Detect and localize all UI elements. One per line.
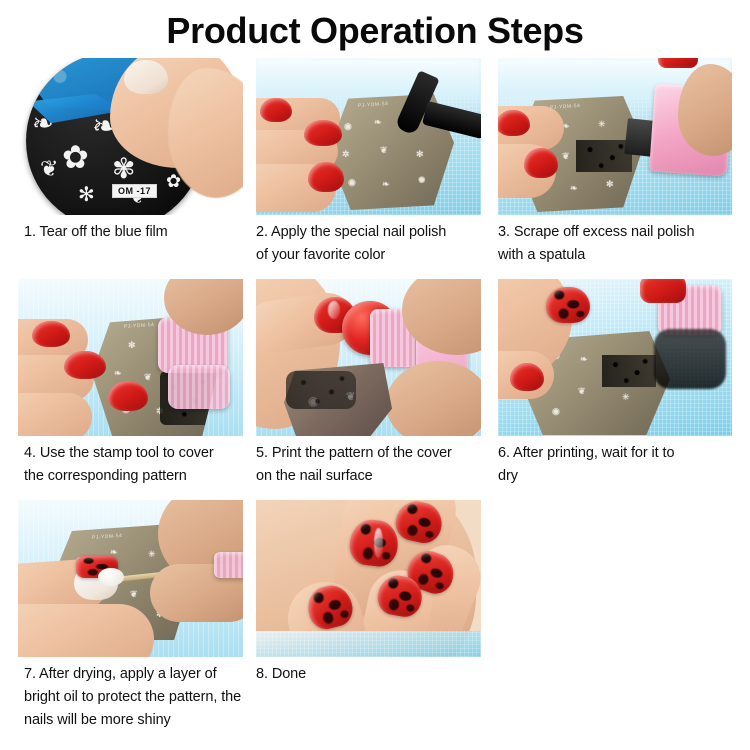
nail-shine xyxy=(374,528,383,558)
step-4-photo: PJ-YDM-54 ✻ ❧ ❦ ◉ ✲ xyxy=(18,279,243,436)
stamper-shadow xyxy=(654,329,726,389)
step-6-photo: ◉ ❧ ✻ ❦ ✳ ◉ xyxy=(498,279,732,436)
motif-spiral: ◉ xyxy=(348,178,356,187)
step-7-photo: PJ-YDM-54 ◉ ❧ ✳ ✻ ❦ ✲ xyxy=(18,500,243,657)
stamper-red-head xyxy=(640,279,686,303)
red-fingernail xyxy=(260,98,292,122)
red-fingernail xyxy=(524,148,558,178)
motif-fern: ❦ xyxy=(578,387,586,396)
plate-swirl-motif: ✻ xyxy=(78,182,95,208)
plate-swirl-motif: ✿ xyxy=(62,144,89,170)
step-item-4: PJ-YDM-54 ✻ ❧ ❦ ◉ ✲ xyxy=(0,279,252,488)
step-1-photo: ❧ ✿ ❦ ❧ ✾ ❧ ✻ ❦ ✿ OM -17 xyxy=(18,58,243,215)
motif-spiral: ◉ xyxy=(552,407,560,416)
step-item-5: ◉ ❦ 5. Print the pattern of the cover on… xyxy=(252,279,492,488)
step-2-photo: PJ-YDM-54 ◉ ❧ ✳ ✲ ❦ ✻ ◉ ❧ ✺ xyxy=(256,58,481,215)
red-fingernail xyxy=(32,321,70,347)
red-polish-bottle-cap xyxy=(658,58,698,68)
motif-spiral: ◉ xyxy=(344,122,352,131)
motif-fern: ❦ xyxy=(144,373,152,382)
step-8-caption: 8. Done xyxy=(256,663,492,686)
motif-burst: ✳ xyxy=(598,120,606,129)
cotton-swab-tip xyxy=(98,568,124,586)
pink-tool-edge xyxy=(214,552,243,578)
polish-ink-smear xyxy=(602,355,656,387)
step-5-caption: 5. Print the pattern of the cover on the… xyxy=(256,442,492,488)
motif-leaf: ❧ xyxy=(374,118,382,127)
step-3-photo: PJ-YDM-54 ◉ ❧ ✳ ✲ ❦ ◉ ❧ ✻ xyxy=(498,58,732,215)
motif-star: ✺ xyxy=(418,176,426,185)
plate-swirl-motif: ❦ xyxy=(40,156,58,182)
step-3-caption: 3. Scrape off excess nail polish with a … xyxy=(498,221,750,267)
step-item-3: PJ-YDM-54 ◉ ❧ ✳ ✲ ❦ ◉ ❧ ✻ xyxy=(492,58,750,267)
step-7-caption: 7. After drying, apply a layer of bright… xyxy=(18,663,252,732)
motif-flower: ✻ xyxy=(128,341,136,350)
step-2-caption: 2. Apply the special nail polish of your… xyxy=(256,221,492,267)
motif-fern: ❦ xyxy=(380,146,388,155)
hand-lower xyxy=(18,604,154,657)
nail-shine xyxy=(328,301,340,319)
red-fingernail xyxy=(64,351,106,379)
finger xyxy=(18,393,92,436)
thumb-nail xyxy=(124,60,168,94)
red-fingernail xyxy=(498,110,530,136)
motif-fern: ❦ xyxy=(130,590,138,599)
red-fingernail xyxy=(304,120,342,146)
motif-flower: ✻ xyxy=(416,150,424,159)
step-1-caption: 1. Tear off the blue film xyxy=(18,221,252,244)
step-5-photo: ◉ ❦ xyxy=(256,279,481,436)
step-item-8: 8. Done xyxy=(252,500,492,686)
red-fingernail xyxy=(308,162,344,192)
motif-leaf: ❧ xyxy=(580,355,588,364)
page-title: Product Operation Steps xyxy=(0,0,750,58)
plate-code-label: OM -17 xyxy=(112,184,157,198)
polish-ink-smear xyxy=(576,140,632,172)
step-item-1: ❧ ✿ ❦ ❧ ✾ ❧ ✻ ❦ ✿ OM -17 xyxy=(0,58,252,244)
motif-flower: ✻ xyxy=(606,180,614,189)
stamped-nail xyxy=(546,287,590,323)
steps-row-2: PJ-YDM-54 ✻ ❧ ❦ ◉ ✲ xyxy=(0,279,750,488)
step-item-2: PJ-YDM-54 ◉ ❧ ✳ ✲ ❦ ✻ ◉ ❧ ✺ xyxy=(252,58,492,267)
steps-row-3: PJ-YDM-54 ◉ ❧ ✳ ✻ ❦ ✲ xyxy=(0,500,750,732)
red-fingernail xyxy=(108,381,148,411)
polish-ink-smear xyxy=(286,371,356,409)
motif-burst: ✳ xyxy=(622,393,630,402)
plate-swirl-motif: ✾ xyxy=(112,156,135,182)
motif-fern: ❦ xyxy=(562,152,570,161)
motif-leaf: ❧ xyxy=(114,369,122,378)
steps-grid: ❧ ✿ ❦ ❧ ✾ ❧ ✻ ❦ ✿ OM -17 xyxy=(0,58,750,732)
steps-row-1: ❧ ✿ ❦ ❧ ✾ ❧ ✻ ❦ ✿ OM -17 xyxy=(0,58,750,267)
motif-sparkle: ✲ xyxy=(342,150,350,159)
photo-background-edge xyxy=(256,631,481,657)
motif-leaf: ❧ xyxy=(570,184,578,193)
step-6-caption: 6. After printing, wait for it to dry xyxy=(498,442,750,488)
step-4-caption: 4. Use the stamp tool to cover the corre… xyxy=(18,442,252,488)
step-8-photo xyxy=(256,500,481,657)
step-item-6: ◉ ❧ ✻ ❦ ✳ ◉ 6. After printing, xyxy=(492,279,750,488)
motif-burst: ✳ xyxy=(148,550,156,559)
step-item-7: PJ-YDM-54 ◉ ❧ ✳ ✻ ❦ ✲ xyxy=(0,500,252,732)
red-fingernail xyxy=(510,363,544,391)
stamper-tool-lower xyxy=(168,365,230,409)
motif-leaf: ❧ xyxy=(382,180,390,189)
